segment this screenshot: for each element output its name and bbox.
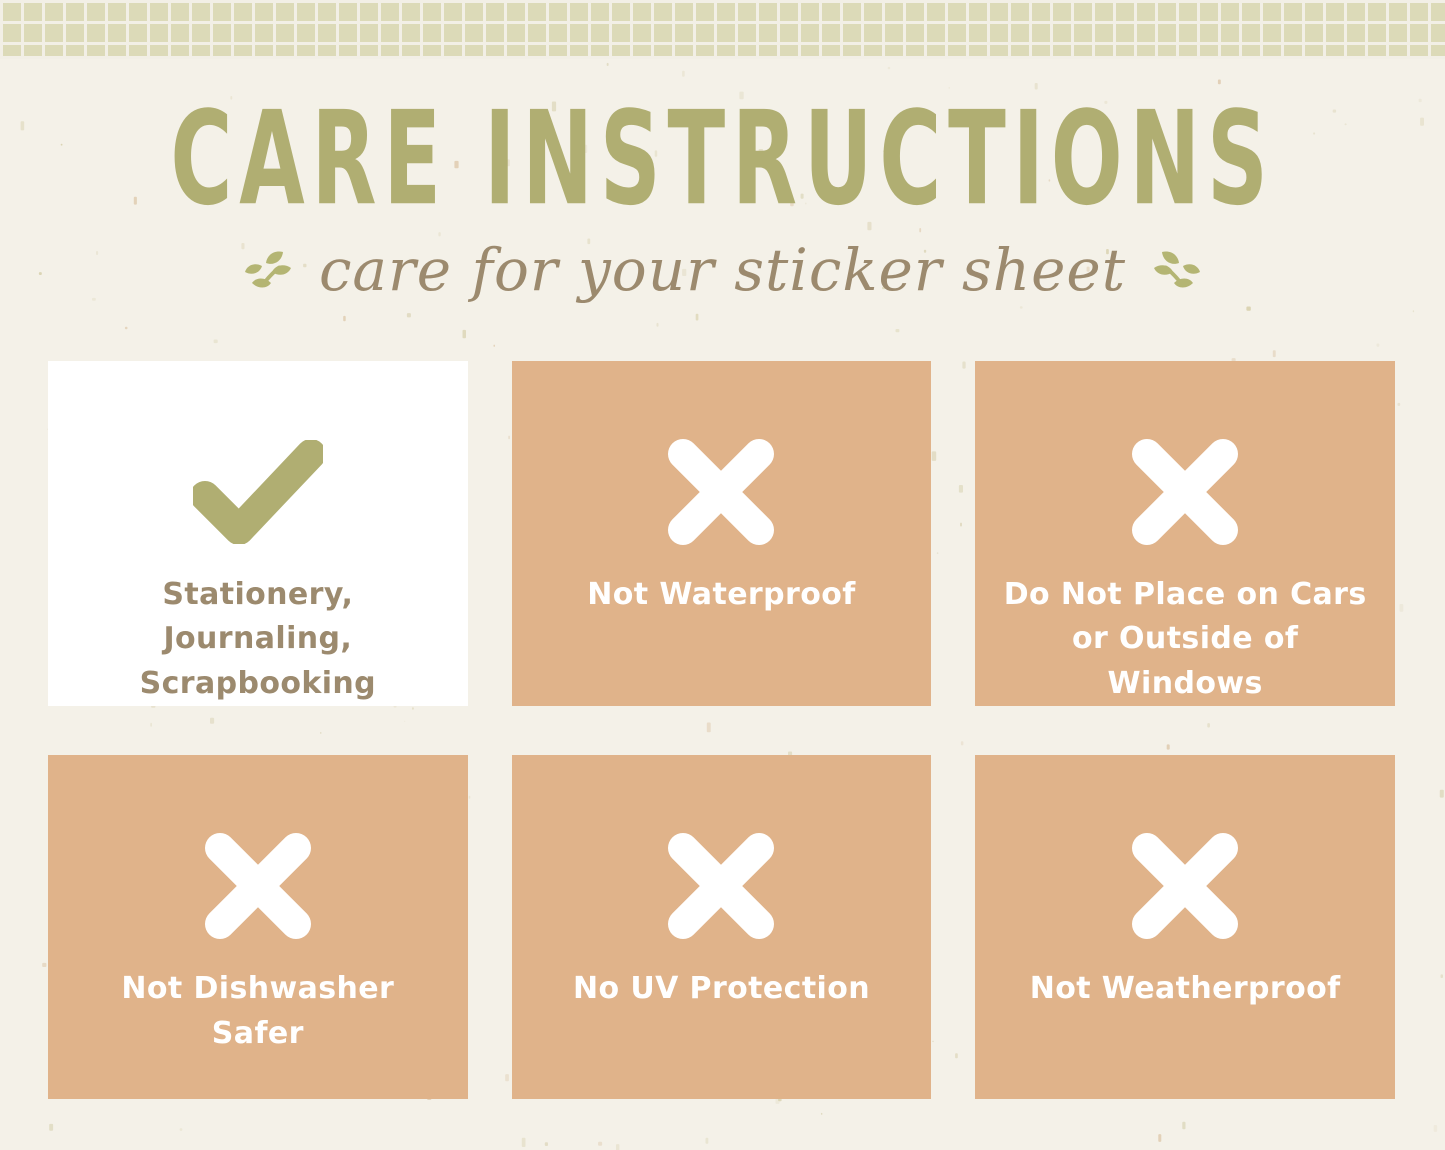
care-card-no-uv-protection: No UV Protection: [512, 755, 932, 1099]
leaf-sprig-icon: [1144, 242, 1202, 298]
header: CARE INSTRUCTIONS care for your sticker …: [0, 95, 1445, 299]
care-card-do-not-place-on-cars-or-outside-of-windows: Do Not Place on Cars or Outside of Windo…: [975, 361, 1395, 706]
care-card-label: No UV Protection: [549, 967, 894, 1011]
subtitle-row: care for your sticker sheet: [0, 241, 1445, 299]
care-card-label: Stationery, Journaling, Scrapbooking: [48, 573, 468, 706]
care-card-label: Not Weatherproof: [1006, 967, 1365, 1011]
care-card-label: Not Dishwasher Safer: [48, 967, 468, 1056]
cross-icon: [1120, 433, 1250, 551]
grid-band-edge: [0, 56, 1445, 59]
cross-icon: [1120, 827, 1250, 945]
care-card-stationery-journaling-scrapbooking: Stationery, Journaling, Scrapbooking: [48, 361, 468, 706]
page-title: CARE INSTRUCTIONS: [29, 95, 1416, 224]
check-icon: [193, 433, 323, 551]
care-card-not-waterproof: Not Waterproof: [512, 361, 932, 706]
subtitle-text: care for your sticker sheet: [319, 241, 1126, 299]
cross-icon: [193, 827, 323, 945]
cross-icon: [656, 827, 786, 945]
cross-icon: [656, 433, 786, 551]
care-card-label: Not Waterproof: [563, 573, 879, 617]
care-instructions-poster: CARE INSTRUCTIONS care for your sticker …: [0, 0, 1445, 1150]
care-card-grid: Stationery, Journaling, ScrapbookingNot …: [48, 361, 1395, 1099]
care-card-not-dishwasher-safer: Not Dishwasher Safer: [48, 755, 468, 1099]
care-card-not-weatherproof: Not Weatherproof: [975, 755, 1395, 1099]
grid-paper-band: [0, 0, 1445, 56]
care-card-label: Do Not Place on Cars or Outside of Windo…: [975, 573, 1395, 706]
leaf-sprig-icon: [243, 242, 301, 298]
